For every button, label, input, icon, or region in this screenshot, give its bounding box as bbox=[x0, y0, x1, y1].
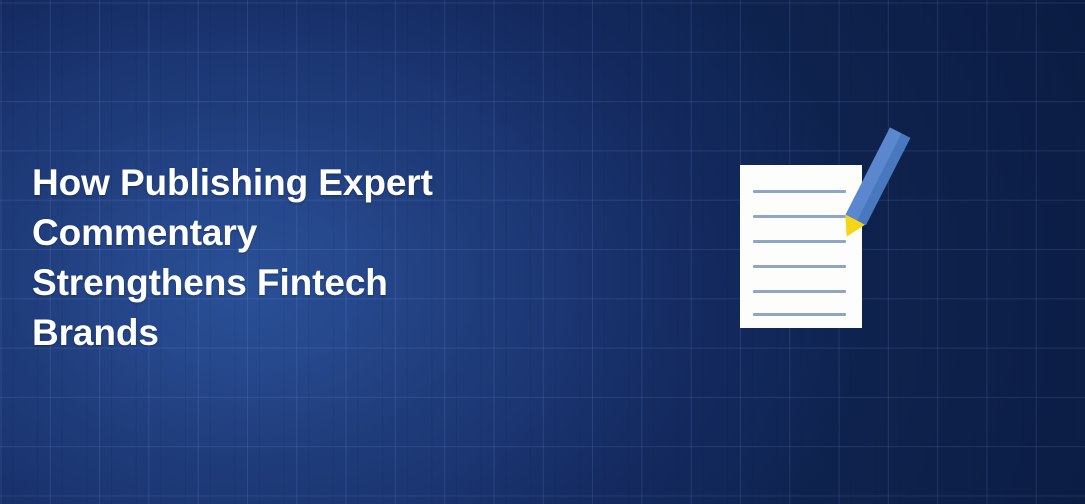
page-title-line-2: Commentary bbox=[32, 208, 552, 258]
document-with-pencil-illustration bbox=[735, 118, 915, 333]
document-text-line bbox=[753, 313, 846, 316]
document-text-line bbox=[753, 215, 846, 218]
document-text-line bbox=[753, 190, 846, 193]
page-title: How Publishing Expert Commentary Strengt… bbox=[32, 158, 552, 358]
page-title-line-1: How Publishing Expert bbox=[32, 158, 552, 208]
page-title-line-4: Brands bbox=[32, 308, 552, 358]
document-page-icon bbox=[740, 165, 862, 328]
document-text-line bbox=[753, 265, 846, 268]
blog-header-banner: How Publishing Expert Commentary Strengt… bbox=[0, 0, 1085, 504]
page-title-line-3: Strengthens Fintech bbox=[32, 258, 552, 308]
document-text-line bbox=[753, 290, 846, 293]
document-text-line bbox=[753, 240, 846, 243]
